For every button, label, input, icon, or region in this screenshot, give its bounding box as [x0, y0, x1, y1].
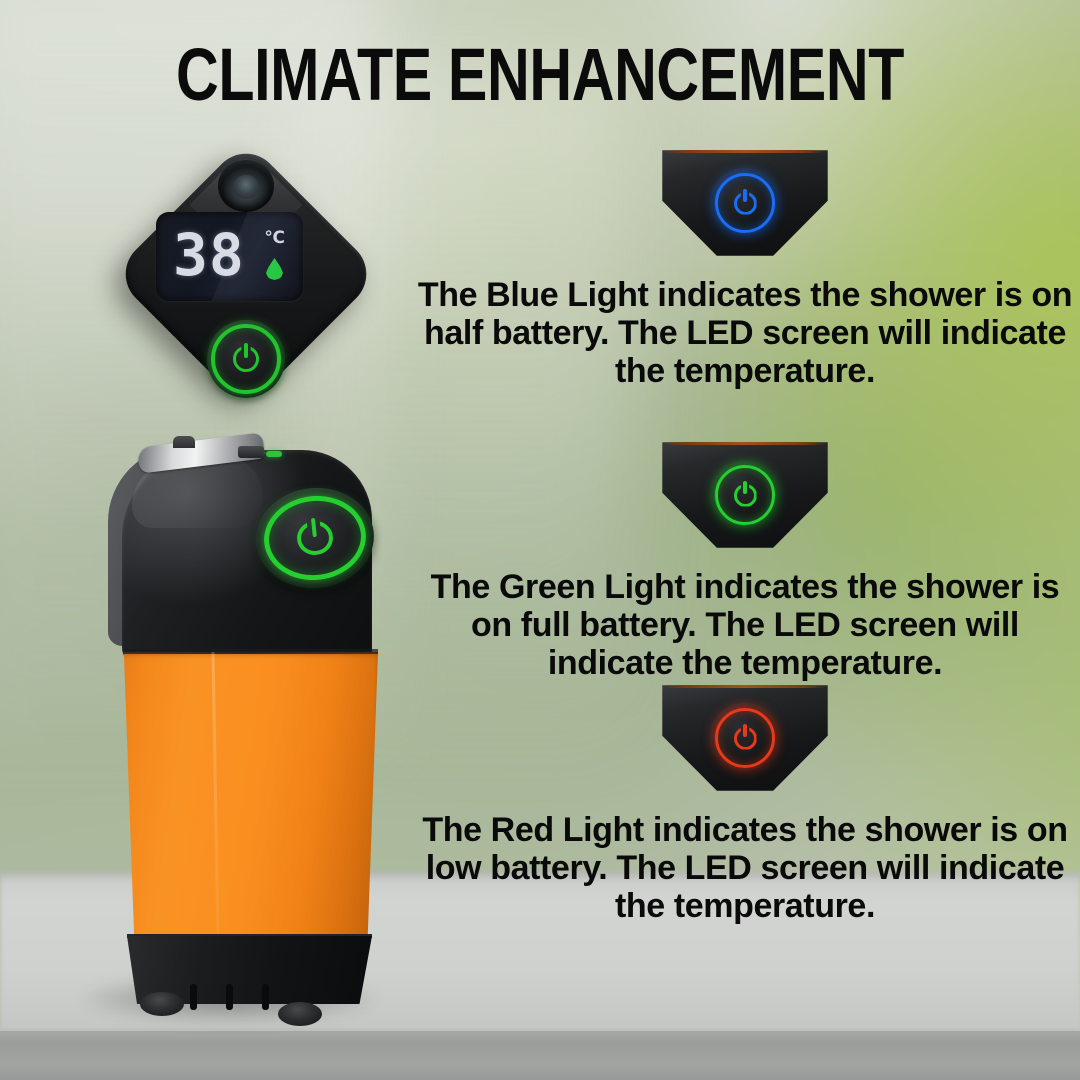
- temperature-value: 38: [173, 224, 245, 286]
- power-icon: [295, 519, 334, 557]
- power-led-ring-green: [211, 324, 281, 394]
- water-drop-icon: [266, 258, 283, 280]
- power-led-ring-red: [715, 708, 775, 768]
- badge-wrap-red: [410, 683, 1080, 793]
- indicator-block-blue: The Blue Light indicates the shower is o…: [410, 148, 1080, 390]
- shower-top-cap-device: 38 ℃: [112, 140, 380, 408]
- indicator-description-red: The Red Light indicates the shower is on…: [410, 811, 1080, 925]
- product-status-led: [266, 451, 282, 457]
- product-cap-nub: [173, 436, 195, 448]
- power-led-ring-green: [715, 465, 775, 525]
- product-base-vent-slot: [190, 984, 197, 1010]
- indicator-description-green: The Green Light indicates the shower is …: [410, 568, 1080, 682]
- power-led-ring-blue: [715, 173, 775, 233]
- top-cap-power-button[interactable]: [207, 320, 285, 398]
- countertop-front-edge: [0, 1028, 1080, 1080]
- blue-light-indicator-badge[interactable]: [657, 148, 833, 258]
- badge-power-button[interactable]: [710, 168, 780, 238]
- badge-wrap-blue: [410, 148, 1080, 258]
- green-light-indicator-badge[interactable]: [657, 440, 833, 550]
- page-title: CLIMATE ENHANCEMENT: [108, 38, 972, 112]
- badge-power-button[interactable]: [710, 460, 780, 530]
- product-body-top-seam: [116, 649, 378, 654]
- power-icon: [734, 484, 757, 507]
- indicator-block-green: The Green Light indicates the shower is …: [410, 440, 1080, 682]
- indicator-block-red: The Red Light indicates the shower is on…: [410, 683, 1080, 925]
- power-icon: [734, 192, 757, 215]
- product-foot-right: [278, 1002, 322, 1026]
- product-base-vent-slot: [226, 984, 233, 1010]
- product-cap-vent: [238, 446, 264, 458]
- product-power-led-ring: [260, 491, 370, 585]
- badge-wrap-green: [410, 440, 1080, 550]
- led-temperature-screen: 38 ℃: [156, 212, 303, 301]
- badge-top-highlight: [663, 150, 827, 153]
- temperature-unit-label: ℃: [264, 228, 285, 248]
- product-foot-left: [140, 992, 184, 1016]
- indicator-description-blue: The Blue Light indicates the shower is o…: [410, 276, 1080, 390]
- power-icon: [734, 727, 757, 750]
- red-light-indicator-badge[interactable]: [657, 683, 833, 793]
- badge-top-highlight: [663, 442, 827, 445]
- portable-shower-product-image: [78, 436, 378, 1016]
- water-outlet-nozzle-icon: [218, 160, 274, 212]
- infographic-canvas: CLIMATE ENHANCEMENT 38 ℃: [0, 0, 1080, 1080]
- badge-power-button[interactable]: [710, 703, 780, 773]
- power-icon: [233, 346, 259, 372]
- badge-top-highlight: [663, 685, 827, 688]
- product-orange-body: [116, 652, 378, 942]
- product-base-vent-slot: [262, 984, 269, 1010]
